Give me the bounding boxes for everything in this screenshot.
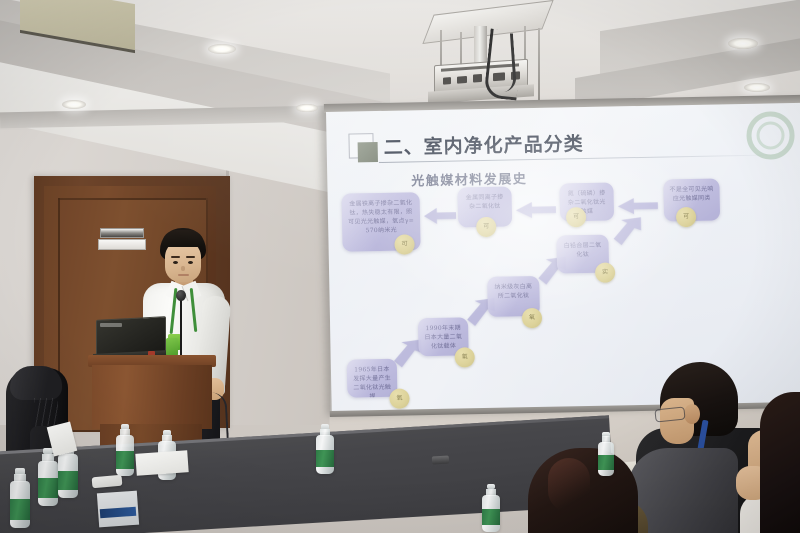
audience-woman-left-hair-highlight [548, 458, 590, 512]
audience-man-ear [684, 404, 700, 424]
water-bottle[interactable] [316, 424, 334, 474]
diagram-box-label: 1965年日本发挥大量产生二氧化钛光触媒 [352, 365, 393, 398]
audience-woman-right-hair [760, 392, 800, 533]
bottle-body [38, 461, 58, 506]
projector-rod-4 [538, 28, 540, 100]
screen-surface: 二、室内净化产品分类 光触媒材料发展史 金属铁离子掺杂二氧化钛，热失稳太有限，照… [326, 103, 800, 412]
water-bottle[interactable] [482, 484, 500, 532]
door-sign-upper [100, 228, 144, 238]
flow-arrow-left [516, 200, 556, 221]
podium-body [92, 365, 212, 429]
diagram-badge: 氧 [389, 388, 409, 408]
diagram-box-label: 金属同离子掺杂二氧化钛 [463, 193, 507, 212]
microphone-stem [180, 296, 182, 356]
slide-subtitle: 光触媒材料发展史 [411, 168, 527, 189]
diagram-box-label: 白铅合层二氧化钛 [562, 241, 604, 260]
bottle-body [10, 481, 30, 528]
bottle-label [482, 509, 500, 525]
bottle-label [598, 455, 614, 470]
ceiling-downlight [728, 38, 758, 49]
bottle-label [116, 451, 134, 469]
conference-room-photo: 二、室内净化产品分类 光触媒材料发展史 金属铁离子掺杂二氧化钛，热失稳太有限，照… [0, 0, 800, 533]
water-bottle[interactable] [116, 424, 134, 476]
diagram-badge: 可 [566, 207, 586, 227]
diagram-box-label: 1990年末期日本大量二氧化钛载体 [423, 323, 464, 351]
flow-arrow-left [424, 206, 456, 227]
office-chair-headrest [10, 366, 62, 400]
bottle-body [482, 495, 500, 532]
diagram-badge: 氧 [455, 347, 475, 367]
diagram-box-label: 不是全可见光响应光触媒同类 [668, 185, 714, 204]
bottle-label [58, 471, 78, 490]
bottle-label [10, 499, 30, 519]
slide-title: 二、室内净化产品分类 [383, 129, 583, 160]
bottle-label [38, 478, 58, 498]
ceiling-downlight [208, 44, 236, 54]
water-bottle[interactable] [598, 432, 614, 476]
ceiling-downlight [744, 83, 770, 92]
bottle-body [116, 435, 134, 476]
flow-arrow-left [618, 196, 658, 217]
laptop-brand-logo [100, 323, 122, 327]
diagram-badge: 可 [476, 217, 496, 237]
microphone-icon [176, 290, 186, 301]
flow-arrow-up [612, 216, 643, 247]
ceiling-downlight [296, 104, 318, 112]
projection-screen: 二、室内净化产品分类 光触媒材料发展史 金属铁离子掺杂二氧化钛，热失稳太有限，照… [326, 103, 800, 414]
diagram-badge: 可 [394, 234, 414, 254]
slide-title-marker-fill [358, 142, 378, 162]
podium-green-item [166, 338, 178, 356]
diagram-box-label: 纳米级灰白离所二氧化钛 [492, 282, 534, 301]
name-card [135, 450, 188, 476]
diagram-box: 1965年日本发挥大量产生二氧化钛光触媒 [347, 359, 398, 398]
table-grommet [432, 456, 449, 465]
diagram-badge: 可 [676, 207, 696, 227]
diagram-box-label: 金属铁离子掺杂二氧化钛，热失稳太有限，照可见光光触媒，氧点γ=570纳米光 [347, 198, 416, 235]
diagram-badge: 氧 [522, 308, 542, 328]
water-bottle[interactable] [38, 448, 58, 506]
diagram-badge: 实 [595, 262, 615, 282]
presenter-hair-front [162, 230, 204, 247]
water-bottle[interactable] [10, 468, 30, 528]
projector-cable-secondary [492, 33, 517, 92]
bottle-body [316, 435, 334, 474]
ceiling-downlight [62, 100, 86, 109]
bottle-body [598, 442, 614, 476]
bottle-body [58, 454, 78, 498]
bottle-label [316, 450, 334, 467]
door-sign-lower [98, 239, 146, 250]
